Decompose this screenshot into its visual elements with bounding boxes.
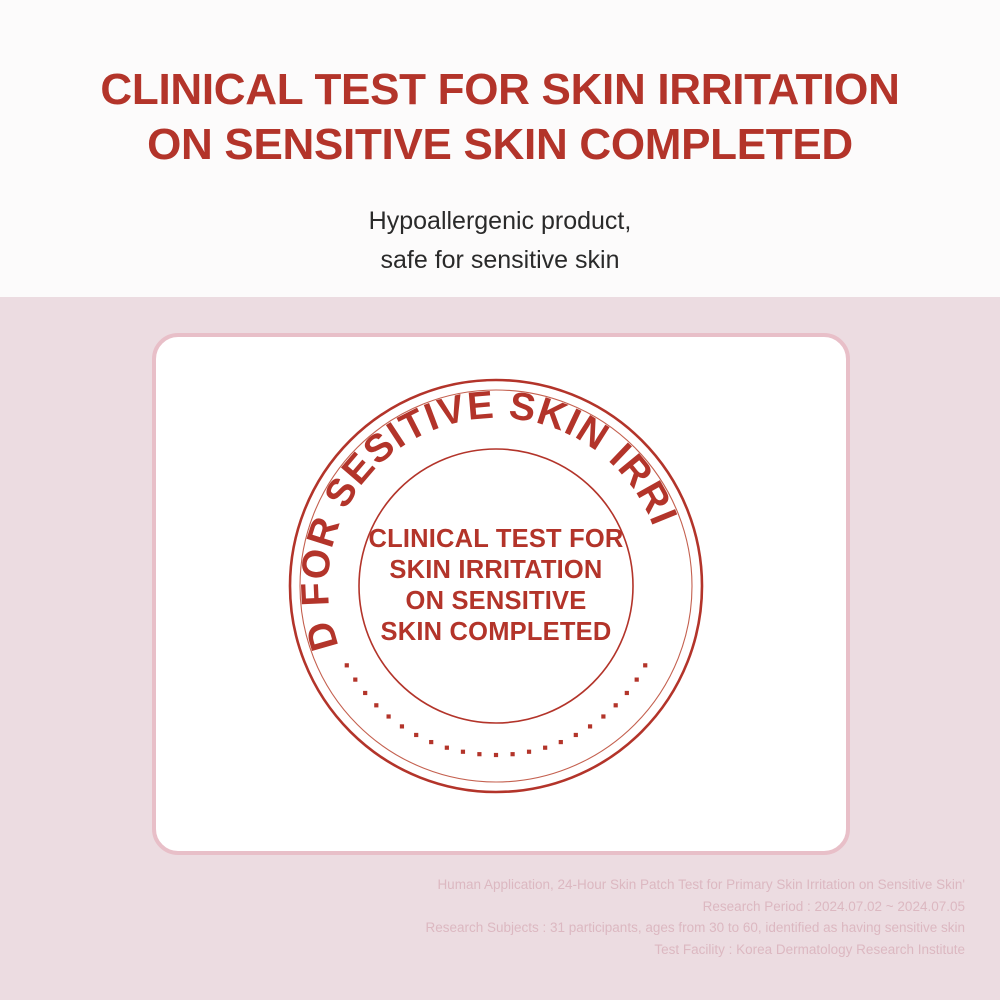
page-title: CLINICAL TEST FOR SKIN IRRITATION ON SEN… [0, 62, 1000, 172]
certification-seal: TESTED FOR SESITIVE SKIN IRRITATION CLIN… [287, 377, 705, 795]
seal-inner-ring [359, 449, 633, 723]
seal-dot-arc [345, 663, 648, 757]
seal-graphic: TESTED FOR SESITIVE SKIN IRRITATION [287, 377, 705, 795]
seal-dot [614, 703, 618, 707]
promo-page: CLINICAL TEST FOR SKIN IRRITATION ON SEN… [0, 0, 1000, 1000]
seal-dot [635, 678, 639, 682]
footnote-line-4: Test Facility : Korea Dermatology Resear… [0, 939, 965, 961]
seal-dot [353, 678, 357, 682]
study-footnote: Human Application, 24-Hour Skin Patch Te… [0, 874, 965, 960]
footnote-line-2: Research Period : 2024.07.02 ~ 2024.07.0… [0, 896, 965, 918]
seal-dot [511, 752, 515, 756]
seal-dot [643, 663, 647, 667]
seal-arc-text: TESTED FOR SESITIVE SKIN IRRITATION [287, 377, 685, 655]
seal-dot [559, 740, 563, 744]
seal-dot [429, 740, 433, 744]
seal-dot [601, 714, 605, 718]
seal-dot [374, 703, 378, 707]
seal-dot [387, 714, 391, 718]
seal-dot [477, 752, 481, 756]
seal-dot [625, 691, 629, 695]
seal-dot [400, 724, 404, 728]
footnote-line-3: Research Subjects : 31 participants, age… [0, 917, 965, 939]
seal-dot [363, 691, 367, 695]
seal-dot [574, 733, 578, 737]
seal-dot [414, 733, 418, 737]
seal-dot [461, 750, 465, 754]
seal-dot [445, 746, 449, 750]
seal-dot [588, 724, 592, 728]
seal-dot [345, 663, 349, 667]
seal-dot [527, 750, 531, 754]
seal-outer-ring [290, 380, 702, 792]
footnote-line-1: Human Application, 24-Hour Skin Patch Te… [0, 874, 965, 896]
hero-band: CLINICAL TEST FOR SKIN IRRITATION ON SEN… [0, 0, 1000, 297]
seal-dot [494, 753, 498, 757]
page-subtitle: Hypoallergenic product, safe for sensiti… [0, 202, 1000, 280]
seal-dot [543, 746, 547, 750]
